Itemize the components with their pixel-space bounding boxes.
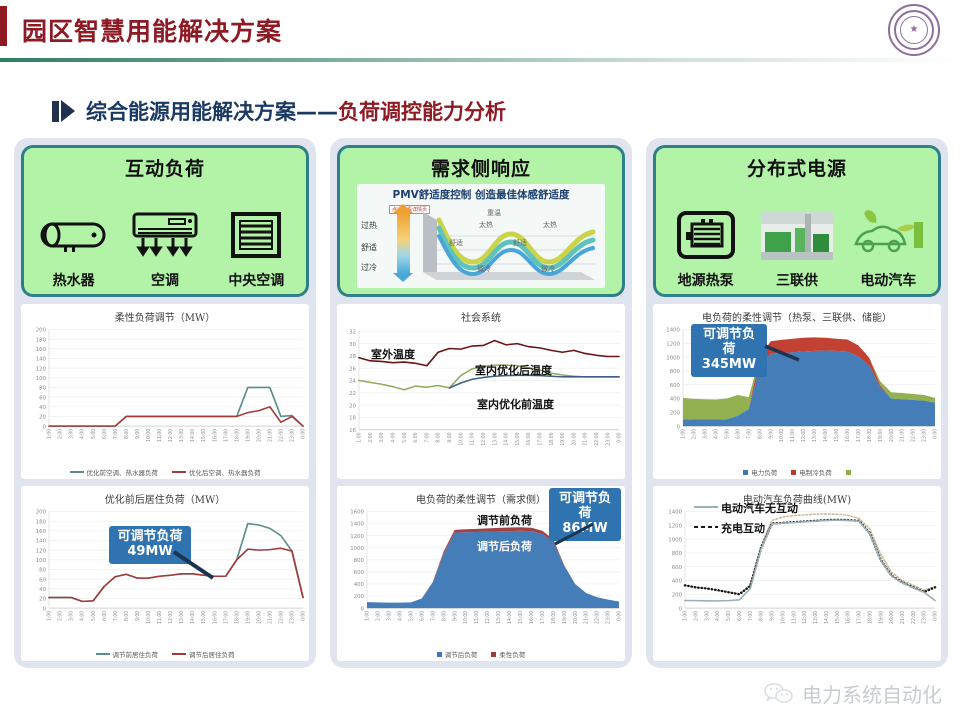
legend-label: 优化前空调、热水器负荷: [87, 467, 159, 477]
svg-text:1400: 1400: [350, 522, 364, 528]
panel-interactive-load: 互动负荷 热水器: [14, 138, 316, 668]
svg-text:28: 28: [349, 354, 356, 360]
legend-item: 电力负荷: [743, 467, 777, 477]
svg-text:600: 600: [670, 383, 680, 389]
svg-text:140: 140: [36, 357, 46, 363]
svg-text:13:00: 13:00: [496, 611, 502, 624]
svg-text:17:00: 17:00: [223, 429, 229, 442]
svg-text:13:00: 13:00: [179, 429, 185, 442]
icon-label: 电动汽车: [860, 270, 916, 290]
svg-text:8:00: 8:00: [441, 611, 447, 621]
pmv-curve-label: 舒适: [449, 238, 463, 248]
svg-text:18: 18: [349, 416, 356, 422]
svg-text:0: 0: [361, 606, 364, 612]
watermark-text: 电力系统自动化: [802, 679, 942, 708]
pmv-curve-label: 太热: [543, 220, 557, 230]
chart-title: 柔性负荷调节（MW）: [21, 304, 309, 324]
svg-text:20:00: 20:00: [889, 429, 895, 442]
svg-text:80: 80: [39, 386, 46, 392]
svg-text:15:00: 15:00: [835, 611, 841, 624]
svg-text:1000: 1000: [666, 355, 680, 361]
svg-text:17:00: 17:00: [856, 611, 862, 624]
svg-text:22:00: 22:00: [594, 433, 600, 446]
svg-text:16:00: 16:00: [212, 429, 218, 442]
callout-adjustable-load: 可调节负荷345MW: [691, 324, 767, 377]
svg-text:19:00: 19:00: [245, 611, 251, 624]
bullet-arrow-icon: [52, 100, 75, 122]
svg-text:16:00: 16:00: [526, 433, 532, 446]
svg-text:180: 180: [36, 520, 46, 526]
pmv-y-label: 过冷: [361, 262, 377, 273]
svg-text:0:00: 0:00: [932, 611, 938, 621]
pmv-curve-label: 舒适: [513, 238, 527, 248]
svg-text:6:00: 6:00: [102, 429, 108, 439]
svg-text:0:00: 0:00: [616, 433, 622, 443]
svg-text:22:00: 22:00: [911, 429, 917, 442]
card-title: 分布式电源: [747, 154, 847, 181]
svg-text:1000: 1000: [350, 546, 364, 552]
panel-demand-side-response: 需求侧响应 PMV舒适度控制 创造最佳体感舒适度 点击查看详情页 过热 舒适 过…: [330, 138, 632, 668]
svg-text:10:00: 10:00: [780, 611, 786, 624]
svg-text:5:00: 5:00: [408, 611, 414, 621]
svg-text:21:00: 21:00: [583, 433, 589, 446]
svg-text:0: 0: [679, 606, 682, 612]
svg-text:11:00: 11:00: [157, 429, 163, 442]
air-conditioner-icon: [129, 205, 201, 267]
pmv-title: PMV舒适度控制 创造最佳体感舒适度: [393, 187, 570, 202]
svg-text:19:00: 19:00: [878, 429, 884, 442]
svg-text:13:00: 13:00: [813, 611, 819, 624]
svg-text:600: 600: [672, 565, 682, 571]
svg-text:18:00: 18:00: [549, 433, 555, 446]
svg-text:2:00: 2:00: [57, 611, 63, 621]
svg-text:4:00: 4:00: [713, 429, 719, 439]
svg-text:21:00: 21:00: [900, 429, 906, 442]
svg-text:22:00: 22:00: [595, 611, 601, 624]
svg-text:16:00: 16:00: [845, 611, 851, 624]
svg-text:6:00: 6:00: [413, 433, 419, 443]
svg-text:4:00: 4:00: [715, 611, 721, 621]
svg-text:600: 600: [354, 570, 364, 576]
chart-supply-side-flexible-regulation: 电负荷的柔性调节（热泵、三联供、储能） 02004006008001000120…: [653, 304, 941, 479]
svg-text:9:00: 9:00: [768, 429, 774, 439]
icon-item-central-air-conditioner: 中央空调: [211, 205, 301, 290]
svg-text:11:00: 11:00: [791, 611, 797, 624]
svg-text:23:00: 23:00: [921, 429, 927, 442]
icon-label: 地源热泵: [678, 270, 734, 290]
svg-text:3:00: 3:00: [379, 433, 385, 443]
legend-label: 调节前居住负荷: [113, 649, 159, 659]
svg-text:1:00: 1:00: [682, 611, 688, 621]
chart-legend: 调节前居住负荷 调节后居住负荷: [21, 649, 309, 659]
svg-text:4:00: 4:00: [397, 611, 403, 621]
svg-text:180: 180: [36, 338, 46, 344]
svg-text:200: 200: [672, 593, 682, 599]
svg-text:21:00: 21:00: [584, 611, 590, 624]
svg-text:6:00: 6:00: [737, 611, 743, 621]
svg-text:1000: 1000: [668, 537, 682, 543]
pmv-curve-label: 微冷: [477, 264, 491, 274]
svg-text:200: 200: [354, 594, 364, 600]
svg-text:7:00: 7:00: [746, 429, 752, 439]
svg-text:23:00: 23:00: [605, 611, 611, 624]
svg-text:22: 22: [349, 391, 356, 397]
svg-text:6:00: 6:00: [735, 429, 741, 439]
svg-text:5:00: 5:00: [91, 611, 97, 621]
svg-text:14:00: 14:00: [823, 429, 829, 442]
legend-label-ev-no-interaction: 电动汽车无互动: [721, 500, 798, 516]
annotation-indoor-after: 室内优化后温度: [475, 362, 552, 378]
svg-text:12:00: 12:00: [801, 429, 807, 442]
svg-text:2:00: 2:00: [693, 611, 699, 621]
svg-text:9:00: 9:00: [769, 611, 775, 621]
svg-text:5:00: 5:00: [724, 429, 730, 439]
header-divider: [0, 58, 960, 62]
annotation-outdoor-temp: 室外温度: [371, 346, 415, 362]
section-title-accent: 负荷调控能力分析: [338, 96, 506, 126]
seal-star-icon: ★: [910, 25, 919, 35]
svg-text:11:00: 11:00: [474, 611, 480, 624]
section-title-main: 综合能源用能解决方案——: [86, 96, 338, 126]
svg-text:120: 120: [36, 367, 46, 373]
svg-text:3:00: 3:00: [702, 429, 708, 439]
svg-text:22:00: 22:00: [278, 429, 284, 442]
legend-label: 调节后居住负荷: [189, 649, 235, 659]
svg-text:11:00: 11:00: [469, 433, 475, 446]
svg-text:21:00: 21:00: [900, 611, 906, 624]
central-air-conditioner-icon: [227, 205, 285, 267]
svg-text:3:00: 3:00: [704, 611, 710, 621]
svg-text:18:00: 18:00: [551, 611, 557, 624]
svg-text:60: 60: [39, 578, 46, 584]
svg-text:16: 16: [349, 428, 356, 434]
annotation-indoor-before: 室内优化前温度: [477, 396, 554, 412]
comfort-gradient-arrow-icon: [397, 212, 410, 274]
svg-text:24: 24: [349, 379, 356, 385]
svg-text:14:00: 14:00: [507, 611, 513, 624]
svg-text:40: 40: [39, 587, 46, 593]
svg-text:9:00: 9:00: [447, 433, 453, 443]
svg-text:200: 200: [36, 510, 46, 516]
svg-text:4:00: 4:00: [390, 433, 396, 443]
legend-label: 电力负荷: [751, 467, 777, 477]
pmv-curve-label: 重温: [487, 208, 501, 218]
svg-text:0:00: 0:00: [932, 429, 938, 439]
svg-text:1400: 1400: [666, 328, 680, 334]
svg-text:15:00: 15:00: [834, 429, 840, 442]
icon-label: 热水器: [53, 270, 95, 290]
svg-text:1:00: 1:00: [356, 433, 362, 443]
svg-text:1:00: 1:00: [46, 429, 52, 439]
svg-text:8:00: 8:00: [759, 611, 765, 621]
page-header: 园区智慧用能解决方案 ★: [0, 0, 960, 72]
svg-text:20:00: 20:00: [571, 433, 577, 446]
header-accent-bar: [0, 6, 7, 46]
svg-text:13:00: 13:00: [179, 611, 185, 624]
svg-text:21:00: 21:00: [267, 611, 273, 624]
svg-text:2:00: 2:00: [57, 429, 63, 439]
svg-text:8:00: 8:00: [757, 429, 763, 439]
svg-text:30: 30: [349, 342, 356, 348]
page-title: 园区智慧用能解决方案: [22, 12, 282, 48]
chart-title: 优化前后居住负荷（MW）: [21, 486, 309, 506]
svg-text:8:00: 8:00: [436, 433, 442, 443]
chart-legend: 优化前空调、热水器负荷 优化后空调、热水器负荷: [21, 467, 309, 477]
svg-text:9:00: 9:00: [452, 611, 458, 621]
svg-text:32: 32: [349, 330, 356, 336]
svg-text:0:00: 0:00: [300, 611, 306, 621]
legend-item: 调节后负荷: [437, 649, 478, 659]
svg-text:7:00: 7:00: [113, 429, 119, 439]
svg-text:12:00: 12:00: [802, 611, 808, 624]
chart-residential-load-before-after: 优化前后居住负荷（MW） 020406080100120140160180200…: [21, 486, 309, 661]
svg-text:10:00: 10:00: [458, 433, 464, 446]
wechat-icon: [764, 682, 794, 706]
section-heading: 综合能源用能解决方案—— 负荷调控能力分析: [52, 96, 506, 126]
svg-text:16:00: 16:00: [845, 429, 851, 442]
svg-text:18:00: 18:00: [234, 429, 240, 442]
pmv-curve-label: 微冷: [541, 264, 555, 274]
svg-text:7:00: 7:00: [113, 611, 119, 621]
svg-text:5:00: 5:00: [402, 433, 408, 443]
svg-text:11:00: 11:00: [157, 611, 163, 624]
svg-text:1200: 1200: [350, 534, 364, 540]
svg-text:60: 60: [39, 396, 46, 402]
svg-text:14:00: 14:00: [190, 429, 196, 442]
svg-text:19:00: 19:00: [562, 611, 568, 624]
svg-text:12:00: 12:00: [168, 429, 174, 442]
icon-item-heat-pump: 地源热泵: [660, 205, 750, 290]
svg-text:12:00: 12:00: [168, 611, 174, 624]
legend-item: [846, 467, 851, 477]
svg-text:22:00: 22:00: [911, 611, 917, 624]
svg-text:1600: 1600: [350, 510, 364, 516]
legend-item: 调节后居住负荷: [172, 649, 235, 659]
panels-container: 互动负荷 热水器: [14, 138, 948, 668]
svg-text:2:00: 2:00: [691, 429, 697, 439]
svg-text:16:00: 16:00: [212, 611, 218, 624]
ground-source-heat-pump-icon: [675, 205, 737, 267]
legend-item: 调节前居住负荷: [96, 649, 159, 659]
svg-text:160: 160: [36, 347, 46, 353]
legend-label: 优化后空调、热水器负荷: [189, 467, 261, 477]
svg-text:23:00: 23:00: [289, 429, 295, 442]
svg-text:7:00: 7:00: [430, 611, 436, 621]
svg-text:1:00: 1:00: [364, 611, 370, 621]
svg-text:0: 0: [43, 424, 46, 430]
pmv-y-label: 过热: [361, 220, 377, 231]
svg-text:8:00: 8:00: [124, 611, 130, 621]
annotation-after-adjust: 调节后负荷: [477, 538, 532, 554]
card-demand-side-response: 需求侧响应 PMV舒适度控制 创造最佳体感舒适度 点击查看详情页 过热 舒适 过…: [337, 145, 625, 297]
chart-title: 社会系统: [337, 304, 625, 324]
svg-text:800: 800: [670, 369, 680, 375]
electric-vehicle-icon: [850, 205, 926, 267]
chart-legend: 电力负荷 电制冷负荷: [653, 467, 941, 477]
legend-item: 优化后空调、热水器负荷: [172, 467, 261, 477]
legend-item: 优化前空调、热水器负荷: [70, 467, 159, 477]
svg-text:1:00: 1:00: [46, 611, 52, 621]
svg-text:15:00: 15:00: [201, 429, 207, 442]
svg-text:14:00: 14:00: [824, 611, 830, 624]
icon-item-water-heater: 热水器: [28, 205, 118, 290]
icon-label: 空调: [151, 270, 179, 290]
svg-text:1200: 1200: [666, 342, 680, 348]
svg-text:11:00: 11:00: [790, 429, 796, 442]
svg-text:3:00: 3:00: [69, 611, 75, 621]
svg-text:6:00: 6:00: [102, 611, 108, 621]
svg-text:20:00: 20:00: [256, 611, 262, 624]
svg-text:20:00: 20:00: [256, 429, 262, 442]
svg-text:0:00: 0:00: [616, 611, 622, 621]
chart-ev-load-curve: 电动汽车负荷曲线(MW) 02004006008001000120014001:…: [653, 486, 941, 661]
pmv-comfort-diagram: PMV舒适度控制 创造最佳体感舒适度 点击查看详情页 过热 舒适 过冷: [357, 184, 605, 288]
svg-text:15:00: 15:00: [515, 433, 521, 446]
chart-social-system-temperature: 社会系统 1618202224262830321:002:003:004:005…: [337, 304, 625, 479]
svg-text:13:00: 13:00: [812, 429, 818, 442]
icon-item-air-conditioner: 空调: [120, 205, 210, 290]
svg-text:10:00: 10:00: [463, 611, 469, 624]
svg-text:10:00: 10:00: [146, 611, 152, 624]
legend-label: 柔性负荷: [499, 649, 525, 659]
svg-text:40: 40: [39, 405, 46, 411]
chart-flexible-load-regulation: 柔性负荷调节（MW） 0204060801001201401601802001:…: [21, 304, 309, 479]
chart-title: 电负荷的柔性调节（热泵、三联供、储能）: [653, 304, 941, 324]
chart-legend: 调节后负荷 柔性负荷: [337, 649, 625, 659]
svg-text:19:00: 19:00: [245, 429, 251, 442]
svg-text:12:00: 12:00: [481, 433, 487, 446]
svg-text:0:00: 0:00: [300, 429, 306, 439]
svg-text:16:00: 16:00: [529, 611, 535, 624]
svg-text:2:00: 2:00: [375, 611, 381, 621]
icon-label: 三联供: [776, 270, 818, 290]
legend-item: 电制冷负荷: [791, 467, 832, 477]
svg-text:400: 400: [672, 579, 682, 585]
svg-text:3:00: 3:00: [69, 429, 75, 439]
svg-text:13:00: 13:00: [492, 433, 498, 446]
svg-text:12:00: 12:00: [485, 611, 491, 624]
svg-text:17:00: 17:00: [540, 611, 546, 624]
svg-text:120: 120: [36, 549, 46, 555]
svg-text:1400: 1400: [668, 510, 682, 516]
svg-text:19:00: 19:00: [560, 433, 566, 446]
svg-text:19:00: 19:00: [878, 611, 884, 624]
svg-text:18:00: 18:00: [867, 611, 873, 624]
svg-text:10:00: 10:00: [146, 429, 152, 442]
svg-text:8:00: 8:00: [124, 429, 130, 439]
svg-text:20:00: 20:00: [889, 611, 895, 624]
svg-text:1200: 1200: [668, 524, 682, 530]
svg-text:200: 200: [36, 328, 46, 334]
svg-text:4:00: 4:00: [80, 611, 86, 621]
icon-label: 中央空调: [228, 270, 284, 290]
svg-text:2:00: 2:00: [368, 433, 374, 443]
university-seal-icon: ★: [888, 4, 940, 56]
svg-text:23:00: 23:00: [605, 433, 611, 446]
svg-text:0: 0: [677, 424, 680, 430]
svg-text:15:00: 15:00: [201, 611, 207, 624]
svg-text:200: 200: [670, 411, 680, 417]
legend-label: 调节后负荷: [445, 649, 478, 659]
svg-text:4:00: 4:00: [80, 429, 86, 439]
card-interactive-load: 互动负荷 热水器: [21, 145, 309, 297]
watermark: 电力系统自动化: [764, 679, 942, 708]
svg-text:17:00: 17:00: [856, 429, 862, 442]
svg-text:9:00: 9:00: [135, 611, 141, 621]
svg-text:7:00: 7:00: [748, 611, 754, 621]
panel-distributed-generation: 分布式电源: [646, 138, 948, 668]
svg-text:10:00: 10:00: [779, 429, 785, 442]
svg-text:17:00: 17:00: [537, 433, 543, 446]
card-distributed-generation: 分布式电源: [653, 145, 941, 297]
svg-text:1:00: 1:00: [680, 429, 686, 439]
svg-text:5:00: 5:00: [726, 611, 732, 621]
svg-text:22:00: 22:00: [278, 611, 284, 624]
svg-text:140: 140: [36, 539, 46, 545]
icon-item-trigeneration: 三联供: [752, 205, 842, 290]
trigeneration-icon: [761, 205, 833, 267]
svg-text:400: 400: [670, 397, 680, 403]
annotation-before-adjust: 调节前负荷: [477, 512, 532, 528]
svg-text:800: 800: [672, 551, 682, 557]
svg-text:23:00: 23:00: [289, 611, 295, 624]
svg-text:17:00: 17:00: [223, 611, 229, 624]
svg-text:160: 160: [36, 529, 46, 535]
legend-item: 柔性负荷: [491, 649, 525, 659]
svg-text:20: 20: [39, 415, 46, 421]
legend-label: 电制冷负荷: [799, 467, 832, 477]
card-title: 需求侧响应: [431, 154, 531, 181]
svg-text:100: 100: [36, 558, 46, 564]
svg-text:14:00: 14:00: [190, 611, 196, 624]
svg-text:0: 0: [43, 606, 46, 612]
svg-text:80: 80: [39, 568, 46, 574]
icon-item-electric-vehicle: 电动汽车: [843, 205, 933, 290]
chart-demand-side-flexible-regulation: 电负荷的柔性调节（需求侧） 02004006008001000120014001…: [337, 486, 625, 661]
svg-text:26: 26: [349, 367, 356, 373]
svg-text:400: 400: [354, 582, 364, 588]
svg-text:3:00: 3:00: [386, 611, 392, 621]
pmv-curve-label: 太热: [479, 220, 493, 230]
svg-text:20: 20: [349, 404, 356, 410]
svg-text:23:00: 23:00: [922, 611, 928, 624]
pmv-y-label: 舒适: [361, 242, 377, 253]
svg-text:15:00: 15:00: [518, 611, 524, 624]
svg-text:5:00: 5:00: [91, 429, 97, 439]
svg-text:800: 800: [354, 558, 364, 564]
card-title: 互动负荷: [125, 154, 205, 181]
svg-text:18:00: 18:00: [867, 429, 873, 442]
svg-text:20:00: 20:00: [573, 611, 579, 624]
svg-text:9:00: 9:00: [135, 429, 141, 439]
water-heater-icon: [38, 205, 110, 267]
svg-text:20: 20: [39, 597, 46, 603]
legend-label-charging-interaction: 充电互动: [721, 520, 765, 536]
svg-text:7:00: 7:00: [424, 433, 430, 443]
svg-text:6:00: 6:00: [419, 611, 425, 621]
svg-text:100: 100: [36, 376, 46, 382]
svg-text:18:00: 18:00: [234, 611, 240, 624]
svg-text:14:00: 14:00: [503, 433, 509, 446]
svg-text:21:00: 21:00: [267, 429, 273, 442]
